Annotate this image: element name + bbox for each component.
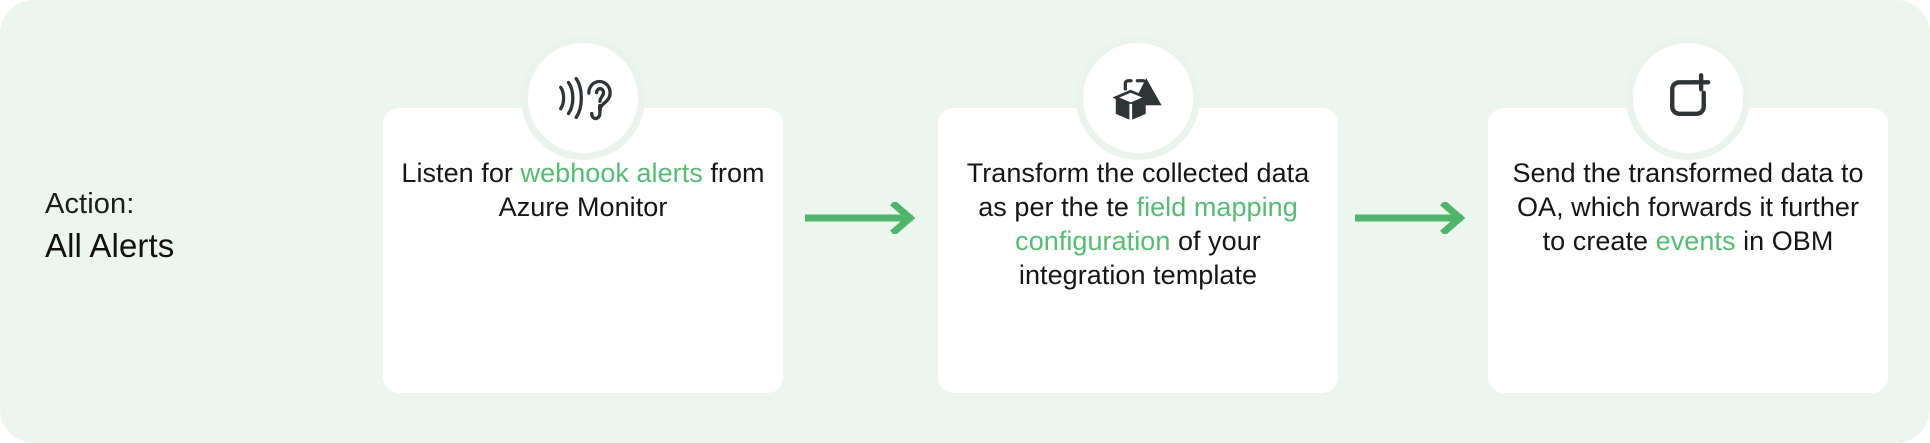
flow-step-3: Send the transformed data to OA, which f… xyxy=(1488,108,1888,393)
arrow-step1-to-step2 xyxy=(805,202,923,234)
step-card-2-text: Transform the collected data as per the … xyxy=(956,156,1320,292)
highlighted-term: events xyxy=(1656,226,1736,256)
transform-shapes-icon-bubble xyxy=(1076,36,1200,160)
transform-shapes-icon xyxy=(1109,69,1167,127)
body-text-segment: in OBM xyxy=(1736,226,1834,256)
ear-listen-icon xyxy=(552,67,614,129)
flow-diagram-canvas: Action: All Alerts Listen for webhook al… xyxy=(0,0,1930,443)
action-label: Action: xyxy=(45,186,295,223)
body-text-segment: Listen for xyxy=(401,158,520,188)
step-card-1-text: Listen for webhook alerts from Azure Mon… xyxy=(401,156,765,224)
step-card-3-text: Send the transformed data to OA, which f… xyxy=(1506,156,1870,258)
flow-step-2: Transform the collected data as per the … xyxy=(938,108,1338,393)
ear-listen-icon-bubble xyxy=(521,36,645,160)
highlighted-term: webhook alerts xyxy=(521,158,703,188)
action-block: Action: All Alerts xyxy=(45,186,295,267)
arrow-step2-to-step3 xyxy=(1355,202,1473,234)
create-add-icon xyxy=(1660,70,1716,126)
action-value: All Alerts xyxy=(45,225,295,267)
create-add-icon-bubble xyxy=(1626,36,1750,160)
flow-step-1: Listen for webhook alerts from Azure Mon… xyxy=(383,108,783,393)
